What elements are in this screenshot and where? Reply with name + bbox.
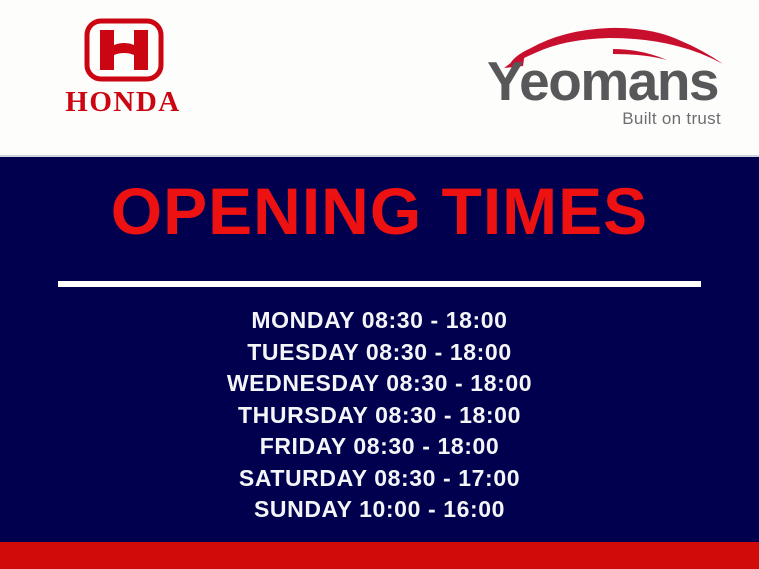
page-title: OPENING TIMES [0,178,759,244]
hours-row: TUESDAY 08:30 - 18:00 [0,337,759,369]
hours-row: FRIDAY 08:30 - 18:00 [0,431,759,463]
bottom-accent-stripe [0,542,759,569]
logo-header-band: HONDA Yeomans Built on trust [0,0,759,157]
honda-wordmark: HONDA [38,88,208,117]
honda-logo: HONDA [38,18,208,128]
yeomans-tagline: Built on trust [487,110,721,127]
opening-times-poster: HONDA Yeomans Built on trust OPENING TIM… [0,0,759,569]
title-underline-divider [58,281,701,287]
hours-row: MONDAY 08:30 - 18:00 [0,305,759,337]
yeomans-logo: Yeomans Built on trust [487,22,727,132]
hours-row: THURSDAY 08:30 - 18:00 [0,400,759,432]
header-divider-rule [0,155,759,157]
hours-row: SATURDAY 08:30 - 17:00 [0,463,759,495]
hours-row: WEDNESDAY 08:30 - 18:00 [0,368,759,400]
opening-hours-list: MONDAY 08:30 - 18:00 TUESDAY 08:30 - 18:… [0,305,759,526]
title-block: OPENING TIMES [0,178,759,244]
yeomans-wordmark: Yeomans [487,54,727,109]
hours-row: SUNDAY 10:00 - 16:00 [0,494,759,526]
honda-h-emblem-icon [84,18,164,82]
